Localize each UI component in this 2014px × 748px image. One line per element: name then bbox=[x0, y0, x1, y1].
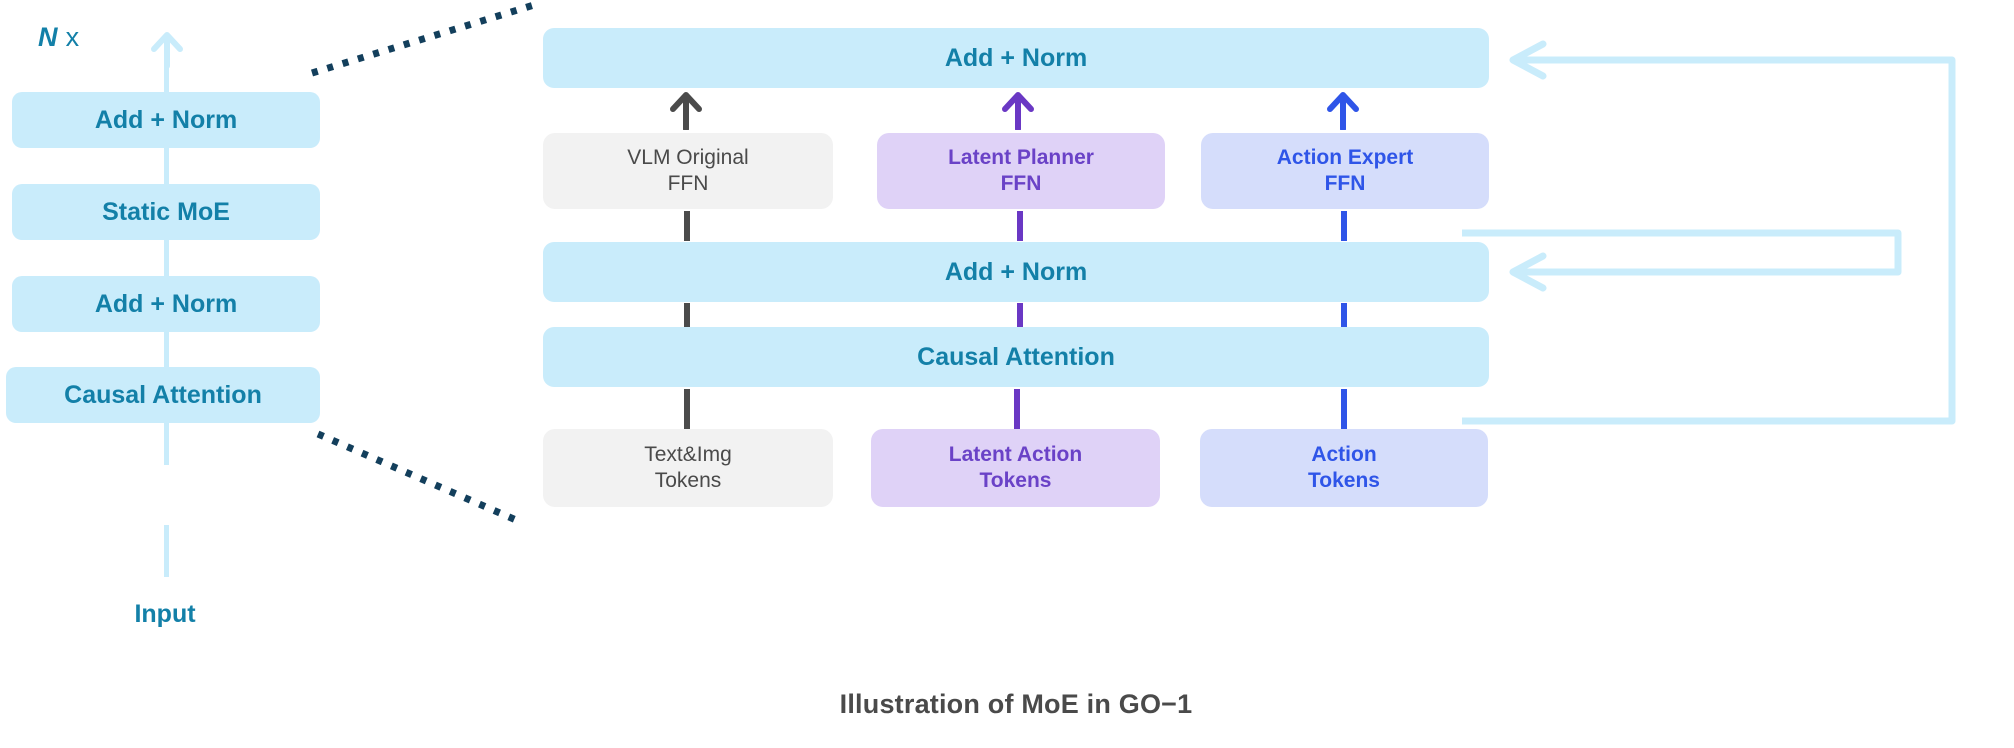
connector-action-lower bbox=[1341, 389, 1347, 429]
arrow-up-icon bbox=[1325, 90, 1361, 130]
connector-vlm-upper bbox=[684, 211, 690, 241]
expert-box-latent-planner-ffn[interactable]: Latent Planner FFN bbox=[877, 133, 1165, 209]
right-panel-moe-detail: Add + Norm VLM Original FFN Latent Plann… bbox=[0, 0, 2014, 748]
connector-action-upper bbox=[1341, 211, 1347, 241]
figure-canvas: N x Add + Norm Static MoE Add + Norm Cau… bbox=[0, 0, 2014, 748]
connector-action-middle bbox=[1341, 303, 1347, 328]
expert-box-action-expert-ffn[interactable]: Action Expert FFN bbox=[1201, 133, 1489, 209]
residual-arrowhead-top bbox=[1513, 44, 1543, 76]
right-box-causal-attention[interactable]: Causal Attention bbox=[543, 327, 1489, 387]
connector-vlm-lower bbox=[684, 389, 690, 429]
connector-vlm-middle bbox=[684, 303, 690, 328]
token-box-text-img-tokens[interactable]: Text&Img Tokens bbox=[543, 429, 833, 507]
residual-path-attention bbox=[1462, 60, 1952, 421]
arrow-up-icon bbox=[1000, 90, 1036, 130]
connector-latent-middle bbox=[1017, 303, 1023, 328]
token-box-action-tokens[interactable]: Action Tokens bbox=[1200, 429, 1488, 507]
expert-box-vlm-original-ffn[interactable]: VLM Original FFN bbox=[543, 133, 833, 209]
residual-path-ffn bbox=[1462, 233, 1898, 272]
arrow-up-icon bbox=[668, 90, 704, 130]
token-box-latent-action-tokens[interactable]: Latent Action Tokens bbox=[871, 429, 1160, 507]
residual-arrowhead-mid bbox=[1513, 256, 1543, 288]
figure-caption: Illustration of MoE in GO−1 bbox=[543, 689, 1489, 720]
right-box-add-norm-top[interactable]: Add + Norm bbox=[543, 28, 1489, 88]
right-box-add-norm-middle[interactable]: Add + Norm bbox=[543, 242, 1489, 302]
connector-latent-lower bbox=[1014, 389, 1020, 429]
connector-latent-upper bbox=[1017, 211, 1023, 241]
